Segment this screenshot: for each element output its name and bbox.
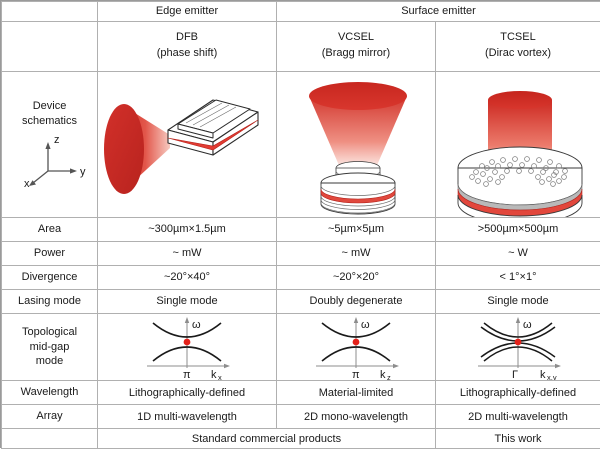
row-label-line-2: schematics [4,114,95,129]
dfb-edge-emitter-schematic [100,72,274,217]
device-subtitle-vcsel: (Bragg mirror) [279,46,433,62]
axis-label-z: z [54,134,60,146]
axis-label-y: y [80,166,86,178]
band-k-subscript: x [218,373,222,380]
tcsel-schematic-icon [438,72,600,217]
device-comparison-table: Edge emitter Surface emitter DFB (phase … [1,1,600,449]
footer-this-work: This work [436,429,600,449]
table-header-group-row: Edge emitter Surface emitter [2,2,600,22]
table-row-lasing-mode: Lasing mode Single mode Doubly degenerat… [2,289,600,313]
row-label-line-1: Device [4,99,95,114]
row-label-divergence: Divergence [2,265,98,289]
band-k-label: k [211,369,217,380]
axis-triad: z y x [4,129,100,189]
vcsel-lower-dbr-base [321,173,395,214]
dfb-schematic-icon [100,72,279,217]
k-axis-arrow [224,364,230,368]
axis-label-x: x [24,178,30,189]
header-edge-emitter: Edge emitter [98,2,277,22]
row-label-topological-mid-gap-mode: Topological mid-gap mode [2,314,98,381]
band-k-label: k [540,369,546,380]
cell-wavelength-vcsel: Material-limited [277,381,436,405]
device-title-dfb: DFB (phase shift) [98,21,277,71]
omega-axis-arrow [185,317,189,323]
vcsel-schematic [279,72,433,217]
row-label-area: Area [2,217,98,241]
band-gap-diagram-kx: π k x ω [100,314,274,380]
row-label-line-2: mid-gap [4,340,95,355]
cell-area-dfb: ~300µm×1.5µm [98,217,277,241]
band-omega-label: ω [523,319,532,331]
cell-band-diagram-tcsel: Γ k x,y ω [436,314,600,381]
device-row-corner [2,21,98,71]
cell-lasing-mode-tcsel: Single mode [436,289,600,313]
cell-array-dfb: 1D multi-wavelength [98,405,277,429]
cell-array-tcsel: 2D multi-wavelength [436,405,600,429]
device-subtitle-dfb: (phase shift) [100,46,274,62]
row-label-array: Array [2,405,98,429]
cell-power-tcsel: ~ W [436,241,600,265]
cell-lasing-mode-vcsel: Doubly degenerate [277,289,436,313]
tcsel-schematic [438,72,598,217]
table-row-divergence: Divergence ~20°×40° ~20°×20° < 1°×1° [2,265,600,289]
band-gap-diagram-kz: π k z ω [279,314,433,380]
cell-array-vcsel: 2D mono-wavelength [277,405,436,429]
tcsel-beam-top [488,91,552,109]
header-surface-emitter: Surface emitter [277,2,600,22]
cell-schematic-dfb [98,71,277,217]
band-point-label: π [183,369,191,380]
dirac-vortex-state-dot [515,339,522,346]
band-point-label: π [352,369,360,380]
omega-axis-arrow [516,317,520,323]
cell-power-dfb: ~ mW [98,241,277,265]
omega-axis-arrow [354,317,358,323]
axis-z-arrow [45,142,50,149]
axis-triad-icon: z y x [4,129,100,189]
row-label-line-1: Topological [4,325,95,340]
row-label-power: Power [2,241,98,265]
table-row-area: Area ~300µm×1.5µm ~5µm×5µm >500µm×500µm [2,217,600,241]
table-header-device-row: DFB (phase shift) VCSEL (Bragg mirror) T… [2,21,600,71]
mid-gap-state-dot [184,339,191,346]
table-row-wavelength: Wavelength Lithographically-defined Mate… [2,381,600,405]
mid-gap-state-dot [353,339,360,346]
band-point-label: Γ [512,369,518,380]
device-name-tcsel: TCSEL [438,30,598,46]
table-row-power: Power ~ mW ~ mW ~ W [2,241,600,265]
row-label-lasing-mode: Lasing mode [2,289,98,313]
device-name-vcsel: VCSEL [279,30,433,46]
table-row-array: Array 1D multi-wavelength 2D mono-wavele… [2,405,600,429]
cell-divergence-tcsel: < 1°×1° [436,265,600,289]
cell-band-diagram-vcsel: π k z ω [277,314,436,381]
band-k-label: k [380,369,386,380]
cell-band-diagram-dfb: π k x ω [98,314,277,381]
device-title-vcsel: VCSEL (Bragg mirror) [277,21,436,71]
band-k-subscript: z [387,373,391,380]
cell-schematic-vcsel [277,71,436,217]
comparison-figure: Edge emitter Surface emitter DFB (phase … [0,0,600,448]
table-row-device-schematics: Device schematics z y x [2,71,600,217]
table-footer-row: Standard commercial products This work [2,429,600,449]
footer-corner-cell [2,429,98,449]
table-row-topological-mid-gap-mode: Topological mid-gap mode π k [2,314,600,381]
k-axis-arrow [555,364,561,368]
band-diagram-vcsel-icon: π k z ω [292,314,420,380]
cell-area-vcsel: ~5µm×5µm [277,217,436,241]
cell-divergence-dfb: ~20°×40° [98,265,277,289]
header-corner-cell [2,2,98,22]
device-name-dfb: DFB [100,30,274,46]
cell-schematic-tcsel [436,71,600,217]
device-title-tcsel: TCSEL (Dirac vortex) [436,21,600,71]
band-diagram-dfb-icon: π k x ω [123,314,251,380]
cell-wavelength-tcsel: Lithographically-defined [436,381,600,405]
k-axis-arrow [393,364,399,368]
cell-lasing-mode-dfb: Single mode [98,289,277,313]
row-label-wavelength: Wavelength [2,381,98,405]
tcsel-photonic-crystal-disk [458,147,582,217]
band-omega-label: ω [192,319,201,331]
vcsel-schematic-icon [279,72,438,217]
axis-y-arrow [70,168,77,173]
dfb-beam-spot [104,104,144,194]
band-k-subscript: x,y [547,373,557,380]
band-diagram-tcsel-icon: Γ k x,y ω [454,314,582,380]
cell-divergence-vcsel: ~20°×20° [277,265,436,289]
dirac-cone-diagram-kxy: Γ k x,y ω [438,314,598,380]
cell-power-vcsel: ~ mW [277,241,436,265]
vcsel-beam-top [309,82,407,110]
cell-wavelength-dfb: Lithographically-defined [98,381,277,405]
band-omega-label: ω [361,319,370,331]
cell-area-tcsel: >500µm×500µm [436,217,600,241]
row-label-line-3: mode [4,354,95,369]
row-label-device-schematics: Device schematics z y x [2,71,98,217]
footer-standard-commercial-products: Standard commercial products [98,429,436,449]
device-subtitle-tcsel: (Dirac vortex) [438,46,598,62]
